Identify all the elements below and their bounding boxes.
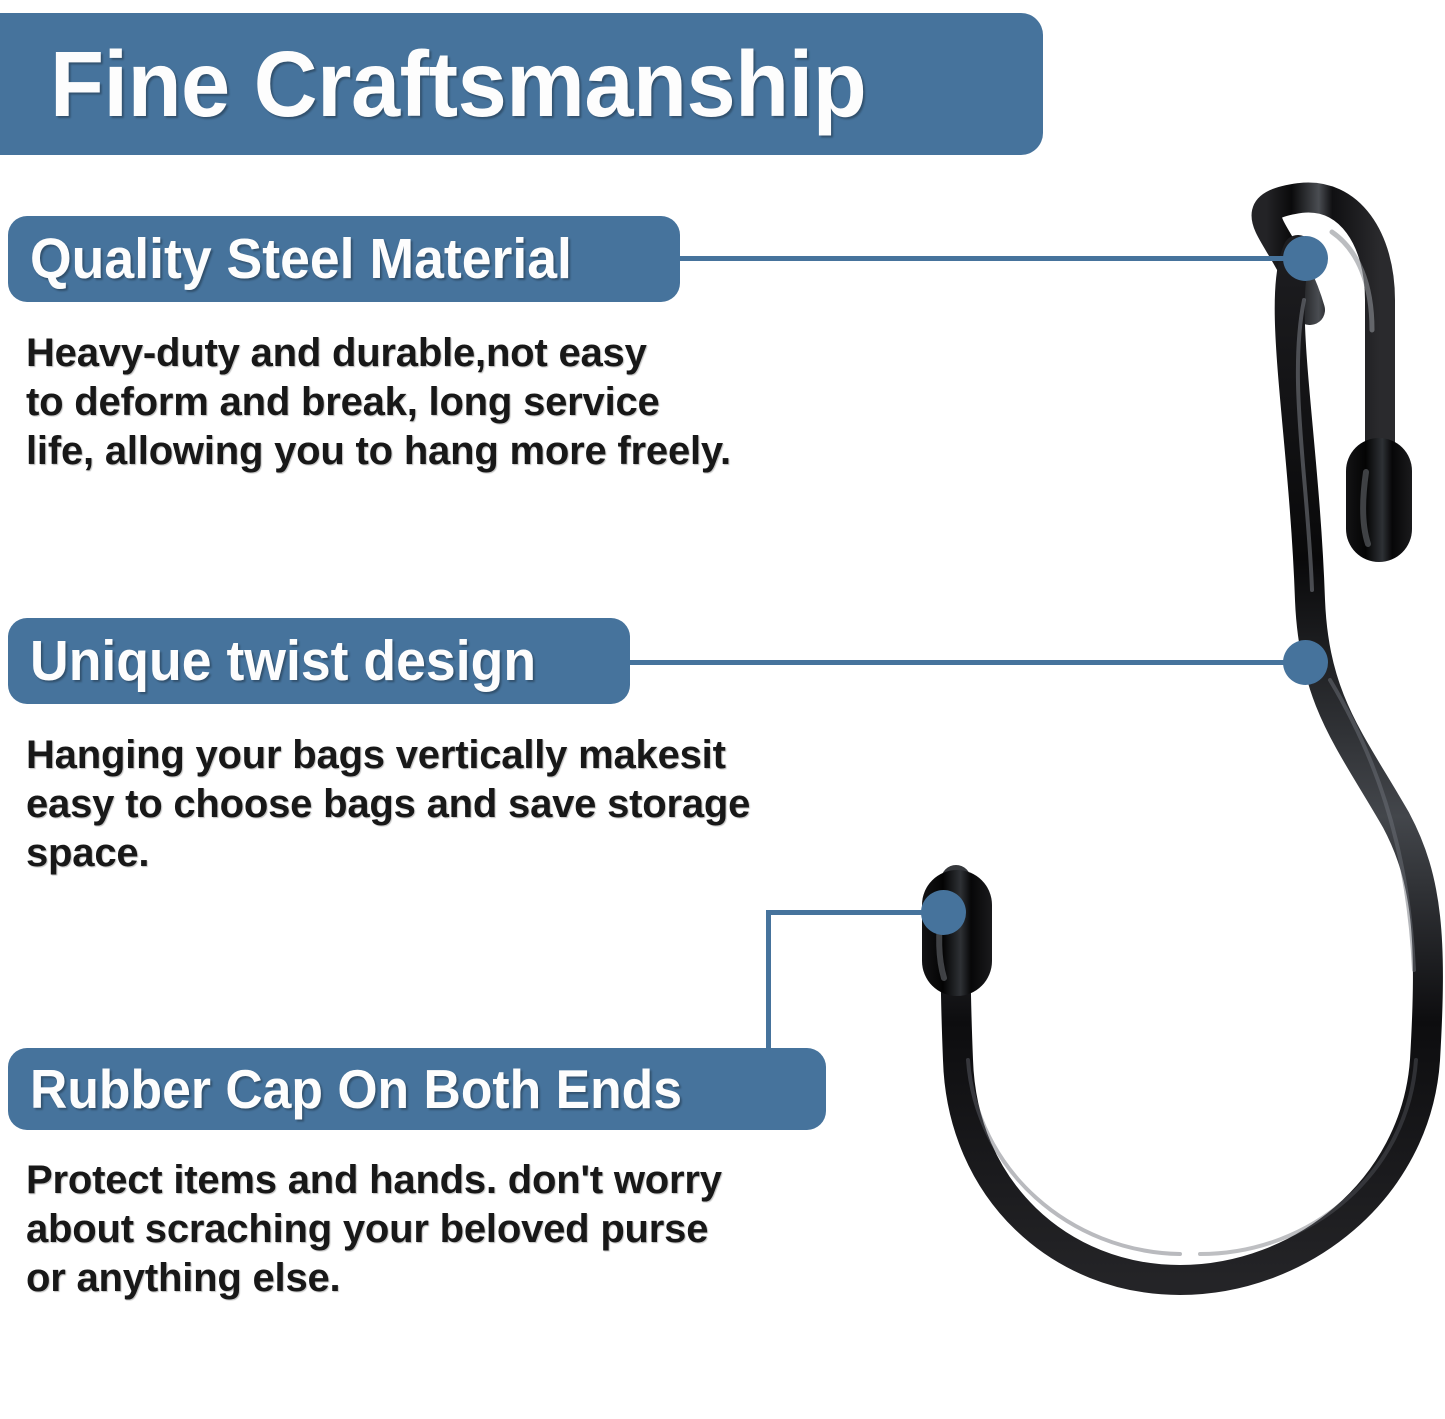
feature-description-rubber-cap-on-both-ends: Protect items and hands. don't worry abo… [26, 1156, 826, 1303]
infographic-canvas: Fine Craftsmanship Quality Steel Materia… [0, 0, 1445, 1419]
feature-label-rubber-cap-on-both-ends: Rubber Cap On Both Ends [8, 1048, 826, 1130]
page-title-banner: Fine Craftsmanship [0, 13, 1043, 155]
connector-line-feature-3-vertical [766, 910, 771, 1052]
connector-dot-feature-3 [921, 890, 966, 935]
shaft-highlight-lower-right [1200, 1060, 1416, 1254]
hook-main-shaft [956, 250, 1428, 1280]
product-photo-hook [880, 180, 1445, 1419]
feature-label-text: Quality Steel Material [30, 231, 572, 288]
feature-description-quality-steel-material: Heavy-duty and durable,not easy to defor… [26, 329, 826, 476]
connector-dot-feature-1 [1283, 236, 1328, 281]
feature-label-text: Unique twist design [30, 633, 536, 690]
feature-description-unique-twist-design: Hanging your bags vertically makesit eas… [26, 731, 846, 878]
feature-label-text: Rubber Cap On Both Ends [30, 1062, 682, 1117]
hook-lower-rubber-cap [922, 870, 992, 996]
hook-illustration [880, 180, 1445, 1419]
hook-upper-rubber-cap [1346, 438, 1412, 562]
hook-body [922, 197, 1428, 1280]
feature-label-quality-steel-material: Quality Steel Material [8, 216, 680, 302]
shaft-highlight-lower-left [968, 1060, 1180, 1254]
feature-label-unique-twist-design: Unique twist design [8, 618, 630, 704]
connector-line-feature-1 [676, 256, 1310, 261]
connector-dot-feature-2 [1283, 640, 1328, 685]
connector-line-feature-2 [626, 660, 1310, 665]
page-title: Fine Craftsmanship [50, 38, 866, 131]
